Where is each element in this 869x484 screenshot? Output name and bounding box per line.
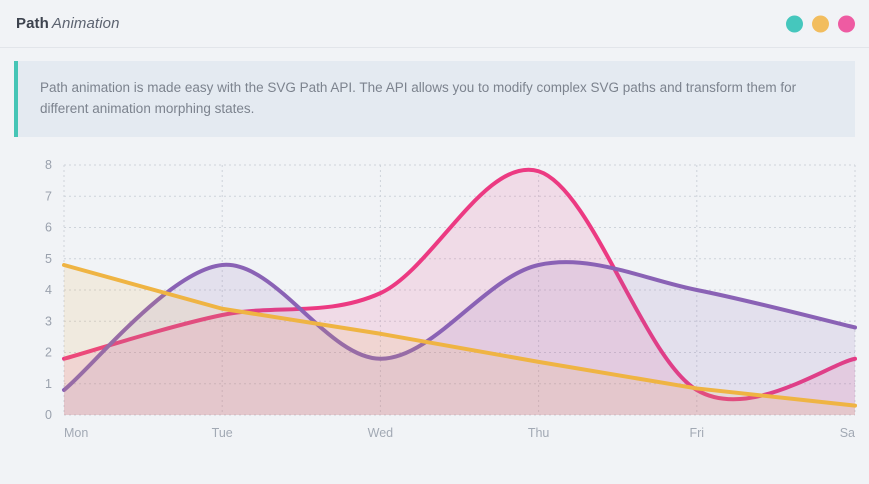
page-title-sub: Animation <box>52 15 120 32</box>
info-banner: Path animation is made easy with the SVG… <box>14 61 855 137</box>
path-animation-card: PathAnimation Path animation is made eas… <box>0 0 869 484</box>
y-axis-tick-label: 5 <box>45 252 52 266</box>
y-axis-tick-label: 0 <box>45 408 52 422</box>
y-axis-tick-label: 7 <box>45 189 52 203</box>
info-banner-text: Path animation is made easy with the SVG… <box>40 78 833 120</box>
x-axis-tick-label: Mon <box>64 426 88 440</box>
chart-container: 012345678MonTueWedThuFriSa <box>0 155 869 460</box>
y-axis-tick-label: 8 <box>45 158 52 172</box>
x-axis-tick-label: Fri <box>690 426 705 440</box>
dot-pink-icon[interactable] <box>838 15 855 32</box>
line-chart: 012345678MonTueWedThuFriSa <box>0 155 869 460</box>
y-axis-tick-label: 3 <box>45 314 52 328</box>
y-axis-tick-label: 6 <box>45 220 52 234</box>
x-axis-tick-label: Wed <box>368 426 394 440</box>
x-axis-tick-label: Tue <box>212 426 233 440</box>
page-title: PathAnimation <box>16 15 120 32</box>
banner-container: Path animation is made easy with the SVG… <box>0 48 869 137</box>
y-axis-tick-label: 4 <box>45 283 52 297</box>
x-axis-tick-label: Sa <box>840 426 855 440</box>
dot-amber-icon[interactable] <box>812 15 829 32</box>
dot-teal-icon[interactable] <box>786 15 803 32</box>
x-axis-tick-label: Thu <box>528 426 550 440</box>
y-axis-tick-label: 2 <box>45 345 52 359</box>
window-dots <box>786 15 855 32</box>
card-header: PathAnimation <box>0 0 869 48</box>
page-title-main: Path <box>16 15 49 32</box>
y-axis-tick-label: 1 <box>45 377 52 391</box>
